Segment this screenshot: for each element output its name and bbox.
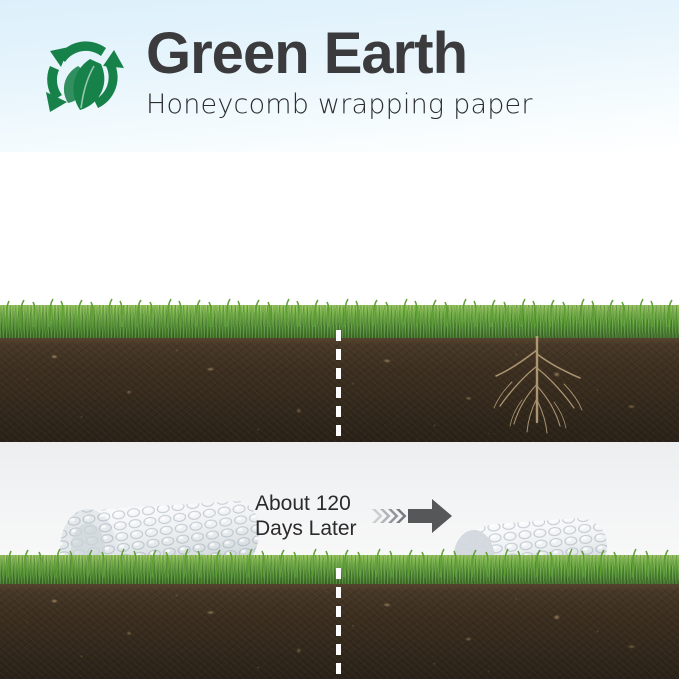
callout-text-plastic: About 120 Days Later xyxy=(255,491,357,541)
panel-divider-plastic xyxy=(336,568,341,679)
callout-line1-plastic: About 120 xyxy=(255,491,357,516)
brand-title: Green Earth xyxy=(146,24,666,84)
panel-biodegradable: About 120 Days Later xyxy=(0,152,679,442)
arrow-group-gray xyxy=(370,499,452,533)
green-earth-infographic: Green Earth Honeycomb wrapping paper xyxy=(0,0,679,679)
plant-root-system xyxy=(452,336,622,436)
chevrons-icon xyxy=(370,505,410,527)
header-banner: Green Earth Honeycomb wrapping paper xyxy=(0,0,679,152)
callout-plastic: About 120 Days Later xyxy=(255,491,452,541)
recycle-leaves-logo xyxy=(28,26,136,130)
brand-block: Green Earth Honeycomb wrapping paper xyxy=(146,24,666,122)
callout-prefix-plastic: About xyxy=(255,492,316,515)
callout-days-value-plastic: 120 xyxy=(316,492,351,515)
arrow-right-icon xyxy=(408,499,452,533)
brand-subtitle: Honeycomb wrapping paper xyxy=(146,88,666,122)
callout-line2-plastic: Days Later xyxy=(255,516,357,541)
panel-divider-biodegradable xyxy=(336,330,341,442)
panel-plastic: About 120 Days Later xyxy=(0,442,679,679)
